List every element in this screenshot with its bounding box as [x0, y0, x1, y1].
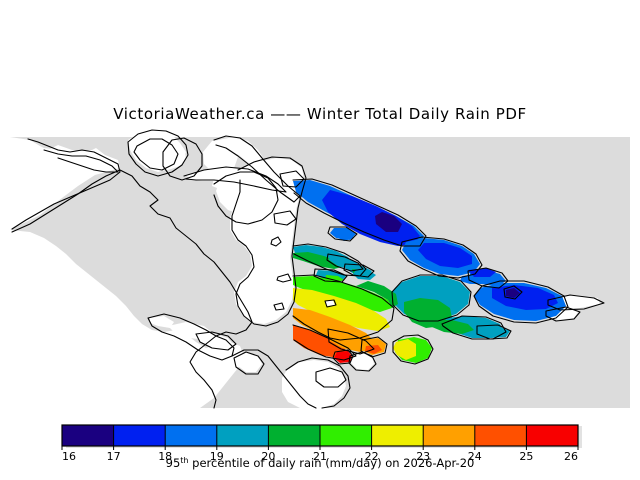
colorbar-tick-label: 17 [107, 450, 121, 463]
caption-superscript: th [180, 456, 188, 465]
caption-rest: percentile of daily rain (mm/day) on 202… [189, 456, 475, 470]
colorbar-tick-label: 25 [519, 450, 533, 463]
colorbar-tick-label: 16 [62, 450, 76, 463]
colorbar-band-24-25 [475, 425, 527, 446]
weather-map-page: VictoriaWeather.ca —— Winter Total Daily… [0, 0, 640, 480]
colorbar-panel: 1617181920212223242526 95th percentile o… [0, 420, 640, 480]
colorbar-canvas: 1617181920212223242526 95th percentile o… [0, 420, 640, 480]
map-canvas [0, 0, 640, 480]
colorbar-band-17-18 [114, 425, 166, 446]
colorbar-tick-label: 26 [564, 450, 578, 463]
colorbar-band-22-23 [372, 425, 424, 446]
colorbar-band-19-20 [217, 425, 269, 446]
caption-prefix: 95 [166, 456, 181, 470]
colorbar-band-18-19 [165, 425, 217, 446]
colorbar-caption: 95th percentile of daily rain (mm/day) o… [166, 456, 475, 470]
colorbar-band-20-21 [268, 425, 320, 446]
colorbar-band-16-17 [62, 425, 114, 446]
map-panel [0, 0, 640, 480]
colorbar-cells [62, 425, 578, 446]
colorbar-band-25-26 [526, 425, 578, 446]
colorbar-band-21-22 [320, 425, 372, 446]
colorbar-band-23-24 [423, 425, 475, 446]
